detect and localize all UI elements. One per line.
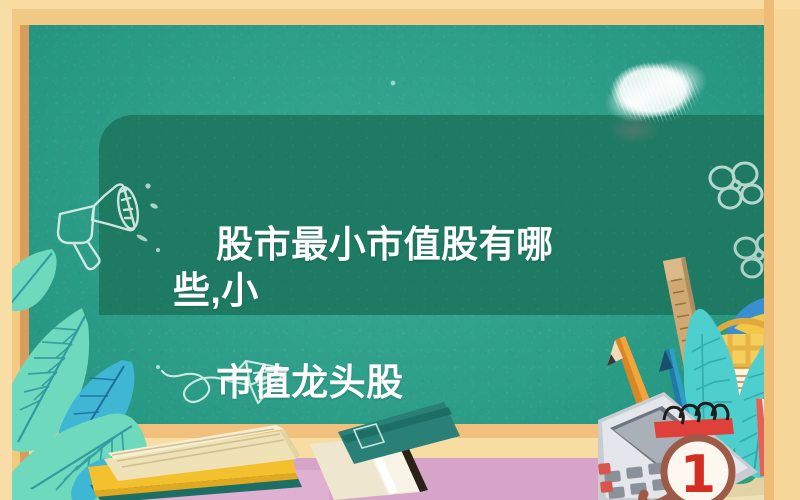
chalk-smear-strokes bbox=[601, 48, 713, 140]
poster-canvas: 64 1 bbox=[0, 0, 800, 500]
page-title-line-1: 股市最小市值股有哪些,小 bbox=[173, 224, 554, 311]
page-title: 股市最小市值股有哪些,小 市值龙头股 bbox=[173, 176, 593, 452]
page-title-line-2: 市值龙头股 bbox=[216, 362, 404, 403]
svg-text:1: 1 bbox=[680, 445, 716, 500]
frame-left-edge bbox=[0, 0, 12, 500]
frame-top-highlight bbox=[0, 0, 800, 9]
chalk-smear bbox=[601, 48, 713, 140]
magnifying-glass: 1 bbox=[638, 400, 768, 500]
flower-doodle-upper-icon bbox=[700, 158, 774, 218]
frame-right-inner-stripe bbox=[764, 0, 774, 500]
chalk-fleck-a bbox=[388, 78, 402, 92]
